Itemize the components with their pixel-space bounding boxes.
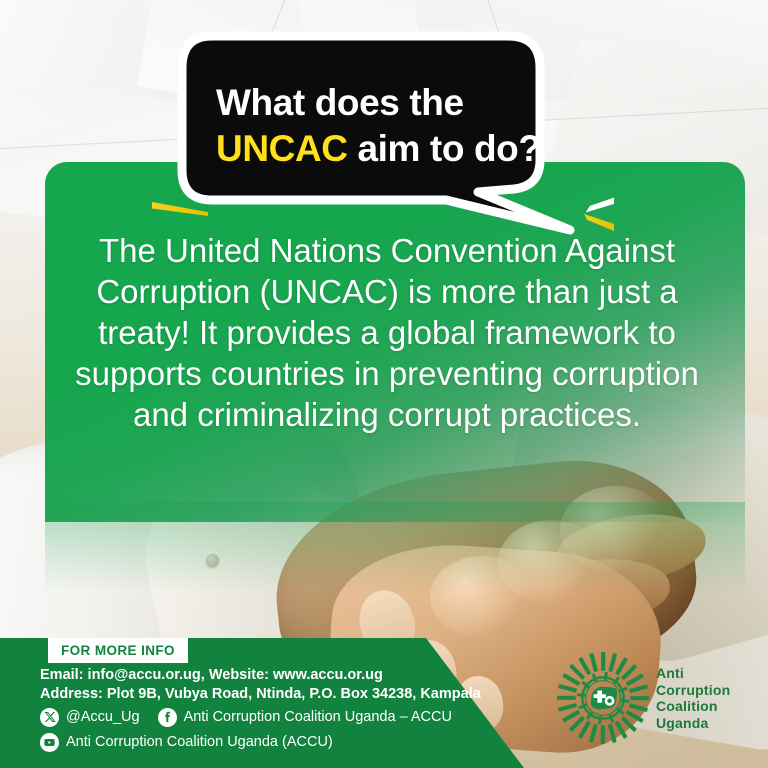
bubble-line-2-rest: aim to do? — [358, 128, 541, 169]
social-row-primary: @Accu_Ug Anti Corruption Coalition Ugand… — [40, 706, 520, 728]
question-speech-bubble: What does the UNCAC aim to do? — [178, 34, 590, 234]
social-row-secondary: Anti Corruption Coalition Uganda (ACCU) — [40, 731, 520, 753]
facebook-icon[interactable] — [158, 708, 177, 727]
poster-canvas: The United Nations Convention Against Co… — [0, 0, 768, 768]
x-twitter-handle[interactable]: @Accu_Ug — [66, 709, 140, 725]
logo-line-2: Corruption — [656, 682, 730, 698]
bubble-text: What does the UNCAC aim to do? — [216, 80, 546, 172]
body-copy: The United Nations Convention Against Co… — [72, 230, 702, 435]
contact-block: Email: info@accu.or.ug, Website: www.acc… — [40, 666, 510, 704]
bubble-highlight-uncac: UNCAC — [216, 128, 348, 169]
youtube-channel-name[interactable]: Anti Corruption Coalition Uganda (ACCU) — [66, 734, 333, 750]
logo-line-4: Uganda — [656, 715, 709, 731]
address-line: Address: Plot 9B, Vubya Road, Ntinda, P.… — [40, 685, 510, 704]
accu-logo-wordmark: Anti Corruption Coalition Uganda — [656, 665, 730, 731]
accu-sunburst-emblem-icon — [556, 651, 650, 745]
social-links: @Accu_Ug Anti Corruption Coalition Ugand… — [40, 706, 520, 756]
facebook-page-name[interactable]: Anti Corruption Coalition Uganda – ACCU — [184, 709, 452, 725]
accu-logo: Anti Corruption Coalition Uganda — [556, 650, 751, 746]
logo-line-1: Anti — [656, 665, 684, 681]
x-twitter-icon[interactable] — [40, 708, 59, 727]
youtube-icon[interactable] — [40, 733, 59, 752]
bubble-line-1: What does the — [216, 82, 464, 123]
logo-line-3: Coalition — [656, 698, 718, 714]
email-line: Email: info@accu.or.ug, Website: www.acc… — [40, 666, 510, 685]
for-more-info-badge: FOR MORE INFO — [48, 638, 188, 663]
